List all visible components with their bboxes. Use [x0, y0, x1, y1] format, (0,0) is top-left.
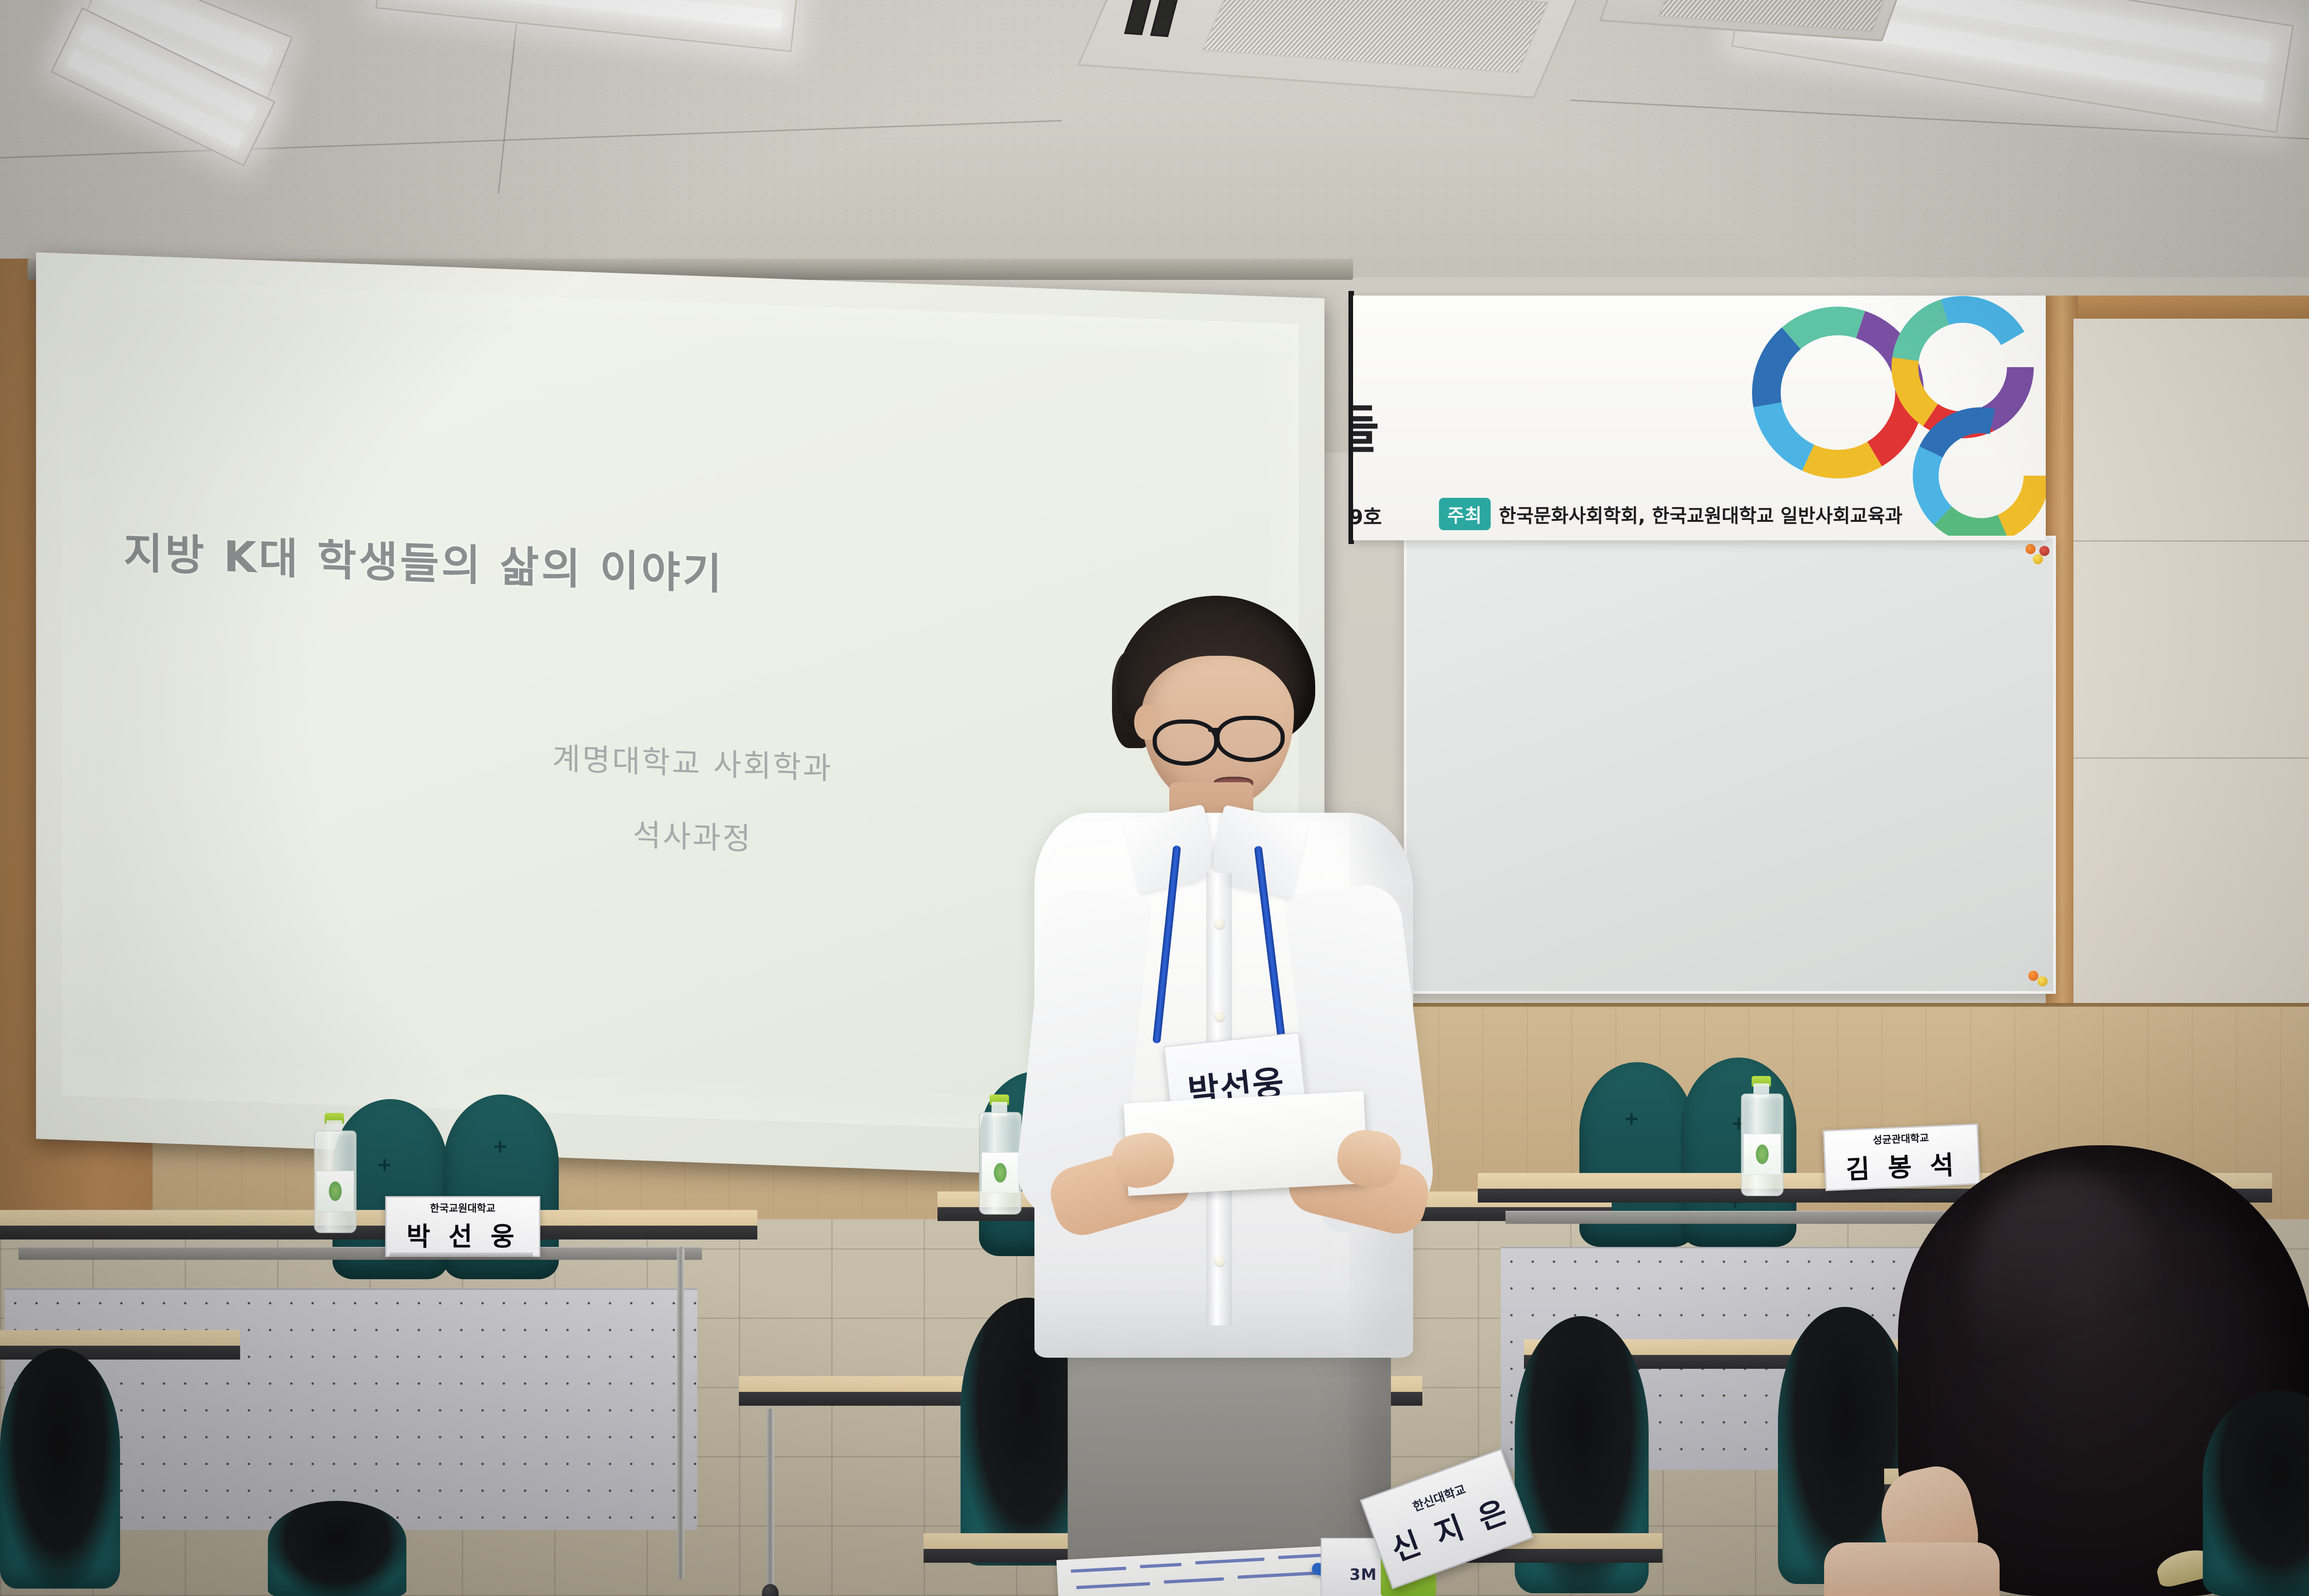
banner-organizer-row: 주최 한국문화사회학회, 한국교원대학교 일반사회교육과	[1353, 498, 2046, 530]
name-placard-left: 한국교원대학교 박 선 웅	[385, 1196, 540, 1257]
eyeglasses-icon	[1153, 719, 1218, 766]
table-leg	[767, 1409, 774, 1593]
water-bottle[interactable]	[1741, 1076, 1782, 1196]
magnet-icon	[2039, 546, 2049, 556]
water-bottle[interactable]	[314, 1113, 355, 1233]
banner-organizers: 한국문화사회학회, 한국교원대학교 일반사회교육과	[1499, 500, 1903, 528]
placard-name: 박 선 웅	[406, 1216, 519, 1253]
attendee-hair-highlight	[1967, 1173, 2161, 1413]
shirt-button	[1215, 1011, 1225, 1022]
table-leg	[677, 1247, 684, 1579]
eyeglasses-icon	[1215, 716, 1285, 762]
banner-cut-title: 들	[1353, 388, 1387, 463]
eyeglasses-bridge	[1208, 728, 1221, 732]
presenter: 박선웅 한국문화사회학회 학술대회	[1007, 596, 1432, 1596]
shirt-button	[1215, 1256, 1225, 1266]
banner-host-badge: 주최	[1439, 498, 1491, 530]
right-wall-frame-top	[2046, 296, 2309, 321]
right-wall-panel	[2073, 319, 2309, 1021]
ceiling-seam	[0, 120, 1062, 158]
placard-org: 한국교원대학교	[430, 1200, 496, 1215]
table-rail	[18, 1247, 702, 1260]
placard-org: 성균관대학교	[1873, 1130, 1929, 1147]
attendee-arm	[1824, 1542, 2000, 1596]
magnet-icon	[2028, 971, 2038, 981]
magnet-icon	[2033, 554, 2043, 564]
table	[0, 1210, 757, 1239]
shirt-button	[1215, 919, 1225, 929]
chair[interactable]	[2203, 1390, 2309, 1596]
chair[interactable]	[0, 1348, 120, 1589]
magnet-icon	[2037, 976, 2048, 986]
conference-room-photo: 지방 K대 학생들의 삶의 이야기 계명대학교 사회학과 석사과정	[0, 0, 2309, 1596]
ceiling-seam	[498, 0, 520, 193]
placard-stand	[390, 1252, 533, 1257]
whiteboard	[1404, 536, 2056, 994]
magnet-icon	[2025, 544, 2036, 554]
chair[interactable]	[268, 1501, 406, 1596]
event-banner: 들 509호 주최 한국문화사회학회, 한국교원대학교 일반사회교육과	[1353, 296, 2046, 540]
